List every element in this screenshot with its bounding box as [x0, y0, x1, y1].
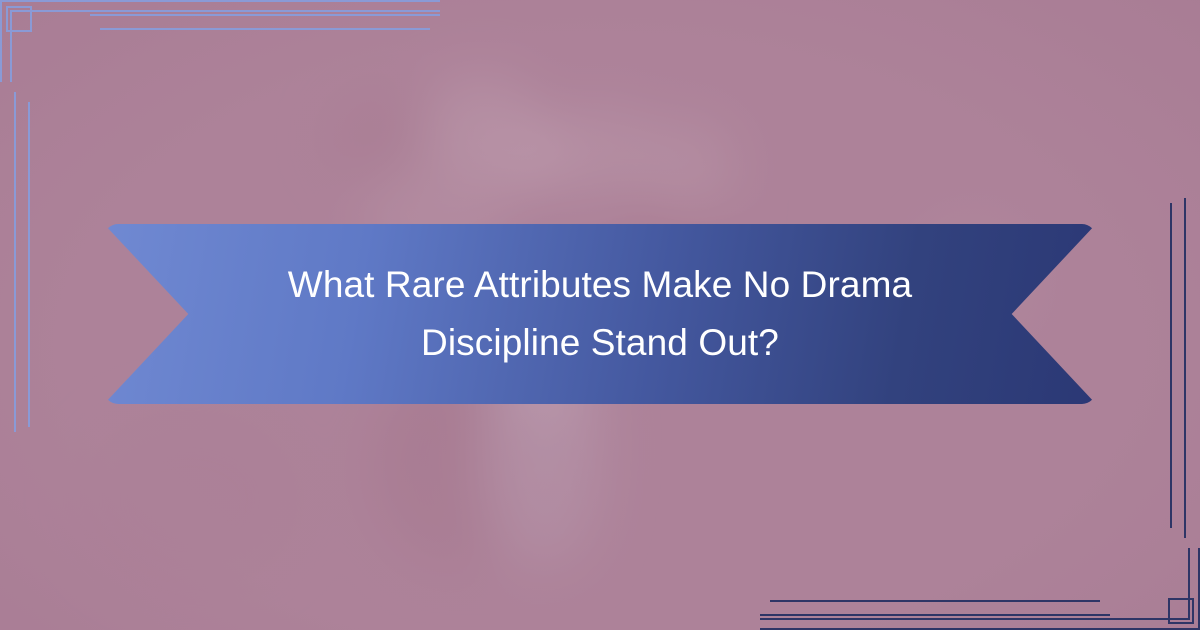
ornament-line [760, 614, 1110, 616]
corner-ornament-bottom-right [1000, 470, 1200, 630]
ornament-line [14, 92, 16, 432]
ornament-line [1170, 203, 1172, 528]
ornament-bracket [10, 10, 440, 82]
ornament-line [1184, 198, 1186, 538]
ornament-line [100, 28, 430, 30]
page-title: What Rare Attributes Make No Drama Disci… [230, 256, 970, 372]
corner-ornament-top-left [0, 0, 200, 160]
ornament-line [90, 14, 440, 16]
ornament-line [770, 600, 1100, 602]
ribbon-banner: What Rare Attributes Make No Drama Disci… [104, 224, 1096, 404]
social-card: What Rare Attributes Make No Drama Disci… [0, 0, 1200, 630]
ornament-line [28, 102, 30, 427]
ornament-bracket [760, 548, 1190, 620]
